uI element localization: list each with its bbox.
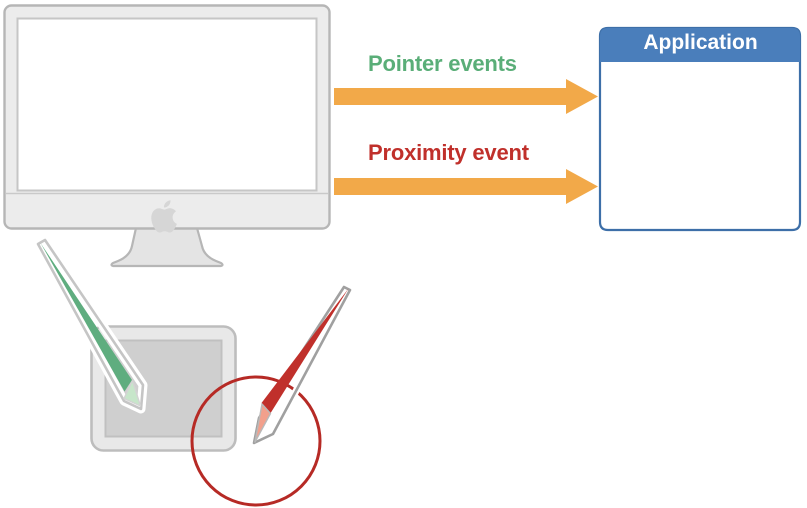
diagram-canvas: Pointer events Proximity event Applicati…	[0, 0, 807, 508]
imac-monitor	[5, 6, 330, 267]
pointer-events-arrow	[334, 79, 598, 114]
proximity-event-arrow	[334, 169, 598, 204]
monitor-screen	[18, 19, 317, 191]
monitor-stand	[112, 228, 223, 266]
application-box-title: Application	[602, 31, 799, 55]
pointer-events-label: Pointer events	[368, 51, 517, 77]
red-stylus-barrel	[262, 289, 349, 415]
application-box	[600, 28, 800, 230]
stylus-in-proximity	[254, 287, 350, 443]
red-stylus-outline	[254, 287, 350, 443]
proximity-event-label: Proximity event	[368, 140, 529, 166]
